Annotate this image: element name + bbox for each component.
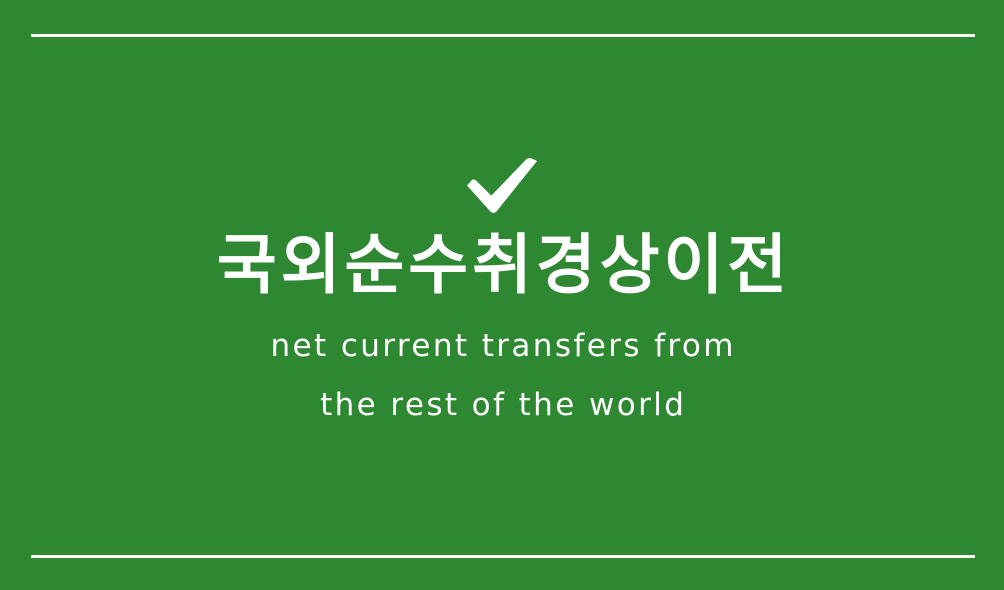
page-title: 국외순수취경상이전 (213, 231, 791, 301)
subtitle-line-1: net current transfers from (268, 317, 736, 376)
term-definition-card: 국외순수취경상이전 net current transfers from the… (0, 0, 1004, 590)
subtitle: net current transfers from the rest of t… (268, 317, 736, 435)
check-icon (454, 155, 550, 217)
bottom-divider (31, 555, 975, 558)
subtitle-line-2: the rest of the world (268, 376, 736, 435)
card-content: 국외순수취경상이전 net current transfers from the… (0, 0, 1004, 590)
